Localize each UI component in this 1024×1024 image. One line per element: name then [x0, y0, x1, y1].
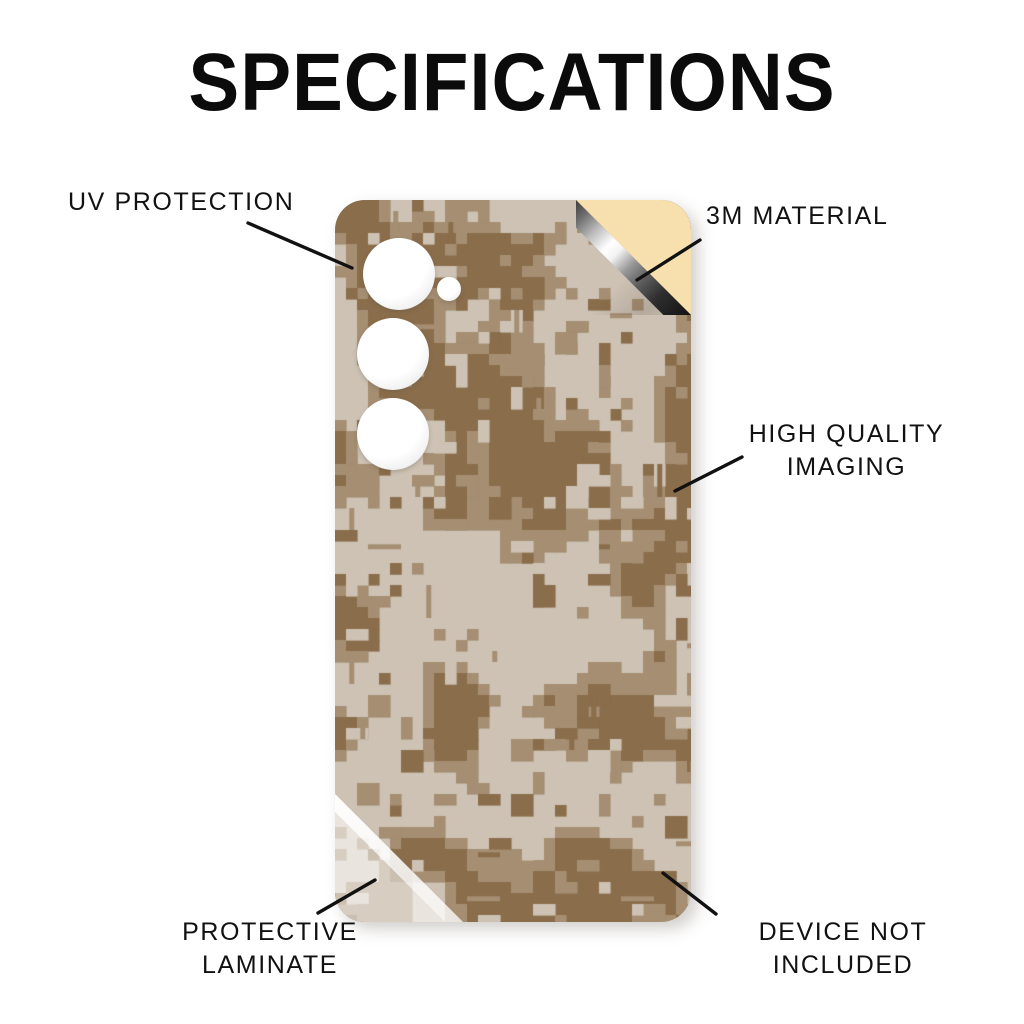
callout-label-high-quality-imaging: HIGH QUALITY IMAGING — [724, 418, 969, 483]
skin-surface — [335, 200, 691, 922]
phone-skin-graphic — [335, 200, 691, 922]
callout-label-protective-laminate: PROTECTIVE LAMINATE — [150, 916, 390, 981]
camera-lens-cutout-1 — [363, 238, 435, 310]
callout-label-device-not-included: DEVICE NOT INCLUDED — [718, 916, 968, 981]
specifications-page: SPECIFICATIONS — [0, 0, 1024, 1024]
peeling-3m-corner — [576, 200, 691, 315]
callout-label-uv-protection: UV PROTECTION — [68, 186, 294, 219]
protective-laminate-corner — [335, 794, 463, 922]
page-title: SPECIFICATIONS — [36, 42, 988, 124]
camera-flash-cutout — [437, 277, 461, 301]
camera-lens-cutout-3 — [357, 398, 429, 470]
camera-lens-cutout-2 — [357, 318, 429, 390]
callout-label-3m-material: 3M MATERIAL — [706, 200, 888, 233]
